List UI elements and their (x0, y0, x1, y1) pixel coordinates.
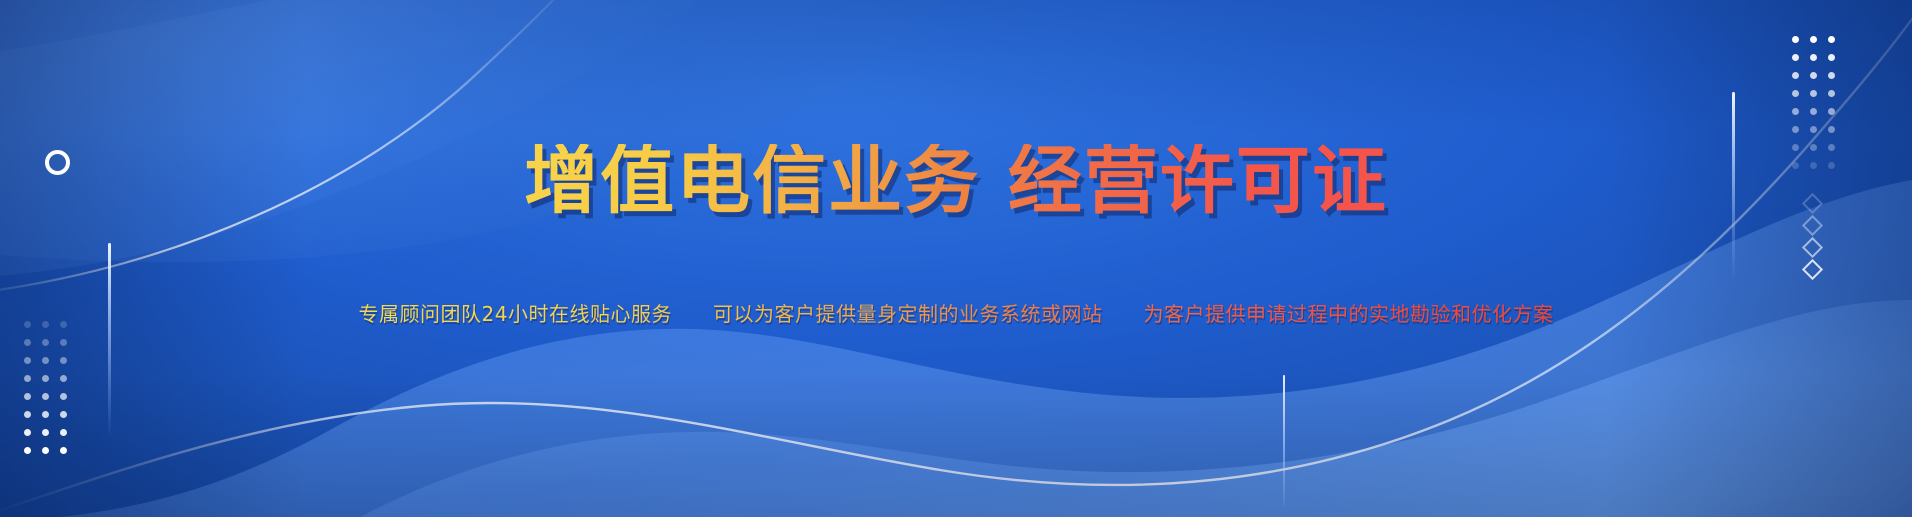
banner-subline: 专属顾问团队24小时在线贴心服务 可以为客户提供量身定制的业务系统或网站 为客户… (359, 301, 1554, 327)
banner-content: 增值电信业务 经营许可证 专属顾问团队24小时在线贴心服务 可以为客户提供量身定… (0, 0, 1912, 517)
banner-headline: 增值电信业务 经营许可证 (524, 144, 1388, 218)
promo-banner: 增值电信业务 经营许可证 专属顾问团队24小时在线贴心服务 可以为客户提供量身定… (0, 0, 1912, 517)
